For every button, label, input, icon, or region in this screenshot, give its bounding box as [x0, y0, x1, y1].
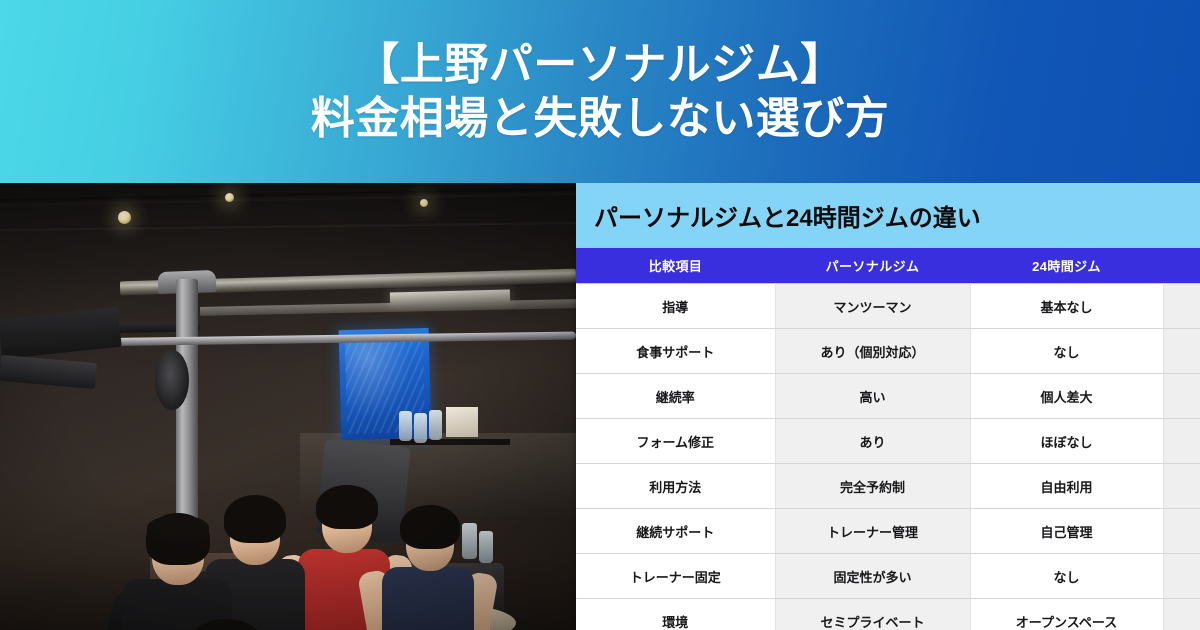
table-row: 利用方法 完全予約制 自由利用 — [576, 464, 1200, 509]
table-row: トレーナー固定 固定性が多い なし — [576, 554, 1200, 599]
table-header: 比較項目 パーソナルジム 24時間ジム — [576, 248, 1200, 284]
table-row: 指導 マンツーマン 基本なし — [576, 284, 1200, 329]
cell-24h-gym: 自己管理 — [970, 509, 1163, 554]
cell-personal-gym: 高い — [775, 374, 970, 419]
table-row: 継続率 高い 個人差大 — [576, 374, 1200, 419]
comparison-table-card: パーソナルジムと24時間ジムの違い 比較項目 パーソナルジム 24時間ジム — [576, 183, 1200, 630]
content-area: THE PERSONAL GYM パーソナルジムと24時間ジムの違い 比較項目 … — [0, 183, 1200, 630]
cell-blank — [1163, 329, 1200, 374]
column-header-24h-gym: 24時間ジム — [970, 248, 1163, 284]
cell-24h-gym: 基本なし — [970, 284, 1163, 329]
cell-blank — [1163, 509, 1200, 554]
cell-24h-gym: オープンスペース — [970, 599, 1163, 630]
hair-front — [147, 515, 209, 541]
table-row: 食事サポート あり（個別対応） なし — [576, 329, 1200, 374]
cell-item: 継続サポート — [576, 509, 775, 554]
cell-personal-gym: セミプライベート — [775, 599, 970, 630]
cell-personal-gym: トレーナー管理 — [775, 509, 970, 554]
column-header-personal-gym: パーソナルジム — [775, 248, 970, 284]
cell-item: フォーム修正 — [576, 419, 775, 464]
hair — [400, 505, 460, 549]
cell-item: 指導 — [576, 284, 775, 329]
cell-item: 利用方法 — [576, 464, 775, 509]
cell-24h-gym: なし — [970, 329, 1163, 374]
cell-blank — [1163, 374, 1200, 419]
table-title: パーソナルジムと24時間ジムの違い — [594, 198, 981, 233]
cell-blank — [1163, 284, 1200, 329]
cell-personal-gym: 完全予約制 — [775, 464, 970, 509]
cell-personal-gym: あり — [775, 419, 970, 464]
table-row: フォーム修正 あり ほぼなし — [576, 419, 1200, 464]
cell-blank — [1163, 464, 1200, 509]
table-header-row: 比較項目 パーソナルジム 24時間ジム — [576, 248, 1200, 284]
bottle-icon — [462, 523, 477, 559]
cell-blank — [1163, 599, 1200, 630]
torso — [382, 567, 474, 630]
cell-item: 環境 — [576, 599, 775, 630]
banner-title-line-2: 料金相場と失敗しない選び方 — [311, 94, 890, 143]
cell-24h-gym: 個人差大 — [970, 374, 1163, 419]
weight-plate-icon — [155, 350, 189, 410]
column-header-item: 比較項目 — [576, 248, 775, 284]
banner-title-block: 【上野パーソナルジム】 料金相場と失敗しない選び方 — [0, 0, 1200, 183]
ceiling-spotlight-icon — [225, 193, 234, 202]
hair — [224, 495, 286, 543]
cell-item: 食事サポート — [576, 329, 775, 374]
cell-24h-gym: 自由利用 — [970, 464, 1163, 509]
cell-item: トレーナー固定 — [576, 554, 775, 599]
bottle-icon — [429, 410, 442, 440]
cell-blank — [1163, 554, 1200, 599]
header-banner: 【上野パーソナルジム】 料金相場と失敗しない選び方 — [0, 0, 1200, 183]
page-root: 【上野パーソナルジム】 料金相場と失敗しない選び方 — [0, 0, 1200, 630]
cell-personal-gym: あり（個別対応） — [775, 329, 970, 374]
banner-title-line-1: 【上野パーソナルジム】 — [355, 40, 845, 89]
cell-24h-gym: なし — [970, 554, 1163, 599]
cell-24h-gym: ほぼなし — [970, 419, 1163, 464]
gym-group-photo: THE PERSONAL GYM — [0, 183, 576, 630]
bottle-icon — [399, 411, 412, 441]
comparison-table: 比較項目 パーソナルジム 24時間ジム 指導 マンツーマン 基本なし 食事サポー — [576, 248, 1200, 630]
ceiling-spotlight-icon — [420, 199, 428, 207]
supplement-box-icon — [446, 407, 478, 437]
bottle-icon — [414, 413, 427, 443]
table-body: 指導 マンツーマン 基本なし 食事サポート あり（個別対応） なし 継続率 高い — [576, 284, 1200, 630]
cell-blank — [1163, 419, 1200, 464]
cell-item: 継続率 — [576, 374, 775, 419]
ceiling-spotlight-icon — [118, 211, 131, 224]
table-row: 環境 セミプライベート オープンスペース — [576, 599, 1200, 630]
table-row: 継続サポート トレーナー管理 自己管理 — [576, 509, 1200, 554]
table-title-bar: パーソナルジムと24時間ジムの違い — [576, 183, 1200, 248]
hair — [316, 485, 378, 529]
bottle-icon — [479, 531, 493, 563]
cell-personal-gym: マンツーマン — [775, 284, 970, 329]
cell-personal-gym: 固定性が多い — [775, 554, 970, 599]
column-header-blank — [1163, 248, 1200, 284]
